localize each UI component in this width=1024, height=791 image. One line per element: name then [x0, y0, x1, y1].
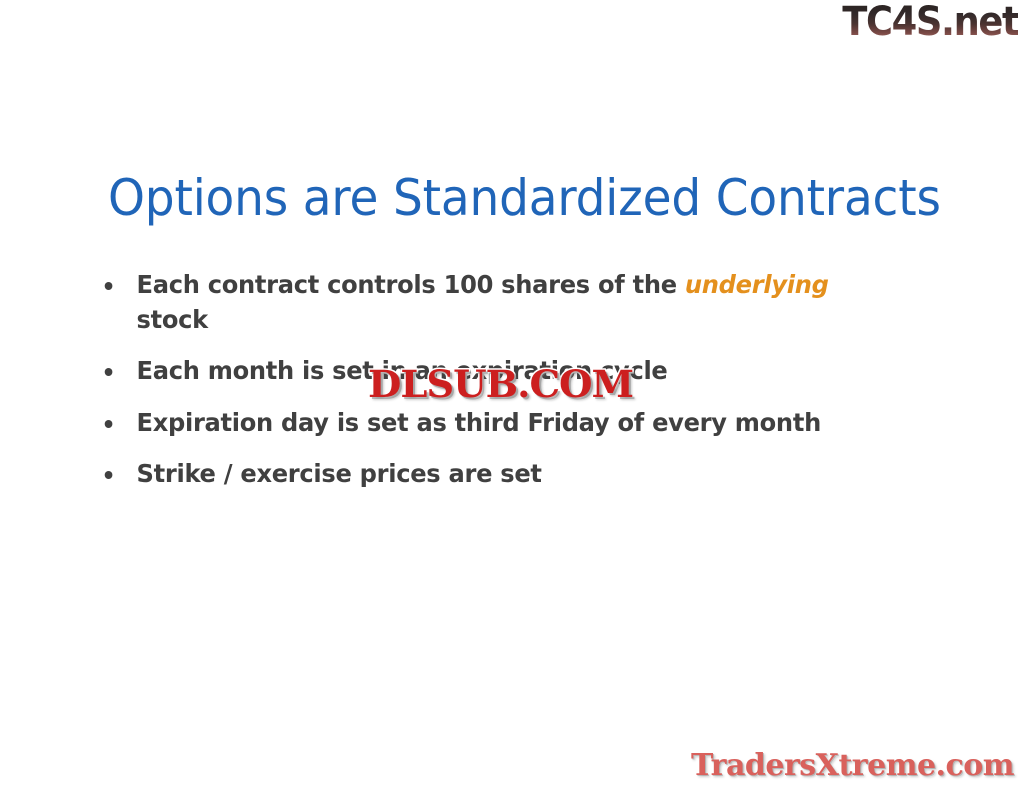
bullet-text-tail: stock: [137, 305, 208, 334]
bullet-text-lead: Each contract controls 100 shares of the: [137, 270, 685, 299]
presentation-slide: TC4S.net Options are Standardized Contra…: [0, 0, 1024, 791]
tradersxtreme-footer-logo: TradersXtreme.com: [691, 751, 1014, 781]
list-item: Strike / exercise prices are set: [96, 457, 907, 492]
list-item: Expiration day is set as third Friday of…: [96, 406, 907, 441]
dlsub-watermark: DLSUB.COM: [368, 366, 633, 403]
list-item: Each contract controls 100 shares of the…: [96, 268, 907, 337]
bullet-text-lead: Strike / exercise prices are set: [137, 459, 542, 488]
tc4s-brand-logo: TC4S.net: [842, 2, 1018, 42]
bullet-text-lead: Expiration day is set as third Friday of…: [137, 408, 821, 437]
bullet-emphasis-underlying: underlying: [685, 270, 829, 299]
page-title: Options are Standardized Contracts: [108, 171, 907, 226]
